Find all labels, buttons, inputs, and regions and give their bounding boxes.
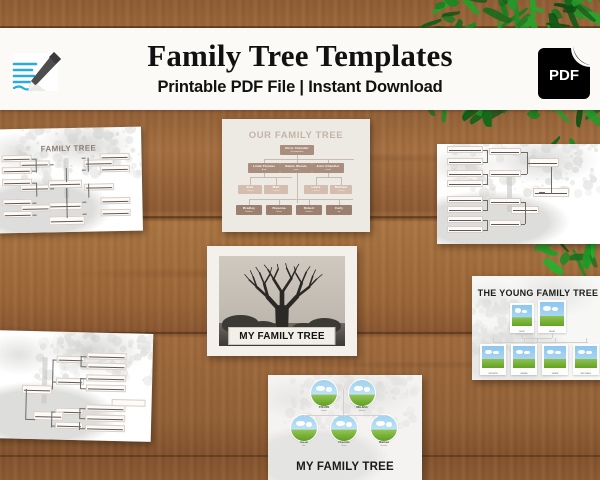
org-node-name: Laura [312, 186, 321, 189]
connector-line [80, 366, 86, 367]
org-node-name: John Chandler [317, 165, 340, 168]
circle-role: Brother [367, 445, 401, 447]
org-node: CarlyMe [326, 205, 352, 215]
org-node-name: Carly [335, 207, 343, 210]
org-connector [316, 177, 342, 178]
org-node-name: Linda Thomas [253, 165, 275, 168]
org-node: MattCousin [264, 185, 288, 194]
cloud-shape [552, 307, 558, 311]
photo-placeholder: DAD [510, 303, 534, 333]
connector-line [79, 418, 85, 419]
cloud-shape [578, 350, 585, 354]
writing-line [449, 220, 481, 221]
cloud-shape [336, 421, 345, 427]
connector-line [521, 224, 525, 225]
connector-line [344, 415, 345, 417]
org-node-role: Cousin [247, 190, 254, 192]
writing-line [449, 230, 481, 231]
writing-line [449, 210, 481, 211]
cloud-shape [524, 351, 529, 355]
connector-line [483, 230, 488, 231]
template-title: MY FAMILY TREE [268, 461, 422, 473]
org-node-name: Breanna [272, 207, 285, 210]
page-title: Family Tree Templates [147, 40, 453, 71]
connector-line [50, 188, 54, 189]
photo-circle [331, 415, 357, 441]
org-connector [276, 177, 277, 185]
template-card-young-family-tree[interactable]: THE YOUNG FAMILY TREE DADMUMSTEVENANNIEG… [472, 276, 600, 380]
writing-line [491, 224, 519, 225]
org-node: KurtCousin [238, 185, 262, 194]
org-node-role: Cousin [313, 190, 320, 192]
connector-line [82, 158, 86, 159]
circle-role: Mother [345, 410, 379, 412]
photo-caption: GENE [542, 373, 568, 375]
org-connector [279, 199, 280, 205]
connector-line [551, 167, 552, 189]
org-node-role: Cousin [273, 190, 280, 192]
writing-line [491, 152, 519, 153]
org-connector [249, 199, 353, 200]
connector-line [487, 174, 488, 184]
connector-line [79, 408, 85, 409]
template-title: MY FAMILY TREE [228, 327, 335, 345]
org-connector [339, 199, 340, 205]
org-connector [249, 199, 250, 205]
connector-line [32, 203, 36, 204]
org-node: MichaelCousin [330, 185, 352, 194]
cloud-shape [386, 422, 393, 426]
connector-line [343, 389, 344, 403]
org-node: RobertBrother [296, 205, 322, 215]
photo-thumbnail [482, 346, 504, 368]
cloud-shape [515, 308, 521, 312]
connector-line [343, 403, 344, 415]
connector-line [79, 428, 85, 429]
org-connector [309, 199, 310, 205]
circle-role: Father [307, 410, 341, 412]
org-connector [264, 159, 265, 163]
template-title: THE YOUNG FAMILY TREE [472, 288, 600, 298]
cloud-shape [555, 351, 560, 355]
photo-placeholder: STEVEN [480, 344, 506, 375]
org-node-name: Doris Chandler [285, 147, 309, 150]
connector-line [555, 338, 556, 342]
connector-line [539, 192, 545, 193]
photo-caption: MICHAEL [573, 373, 599, 375]
photo-placeholder: MICHAEL [573, 344, 599, 375]
cloud-shape [543, 306, 550, 311]
connector-line [384, 415, 385, 417]
photo-thumbnail [512, 305, 532, 326]
org-node: BradleyBrother [236, 205, 262, 215]
connector-line [537, 338, 538, 342]
template-card-classic-pedigree[interactable]: FAMILY TREE [0, 127, 143, 234]
photo-caption: STEVENFather [307, 407, 341, 412]
template-card-pedigree-bottom-left[interactable] [0, 330, 153, 442]
org-connector [328, 159, 329, 163]
org-connector [250, 177, 251, 185]
org-node-name: Bradley [243, 207, 255, 210]
connector-line [483, 162, 488, 163]
pdf-file-icon: PDF [538, 44, 590, 99]
org-node-role: Brother [245, 211, 252, 213]
circle-name: Jessie [287, 442, 321, 445]
photo-thumbnail [513, 346, 535, 368]
photo-placeholder: ANNIE [511, 344, 537, 375]
photo-caption: STEVEN [480, 373, 506, 375]
cloud-shape [354, 386, 363, 392]
photo-circle [371, 415, 397, 441]
connector-line [586, 338, 587, 342]
org-node-role: Cousin [338, 190, 345, 192]
writing-line [449, 174, 481, 175]
connector-line [82, 202, 86, 203]
connector-line [521, 174, 527, 175]
writing-line [449, 150, 481, 151]
org-connector [297, 159, 298, 163]
photo-thumbnail [544, 346, 566, 368]
photo-placeholder: GENE [542, 344, 568, 375]
photo-placeholder: MUM [538, 300, 566, 333]
photo-circle [311, 380, 337, 406]
org-node: LauraCousin [304, 185, 328, 194]
org-node: Elaine WoodsMum [280, 163, 312, 173]
cloud-shape [316, 386, 325, 392]
cloud-shape [346, 422, 353, 426]
connector-line [50, 164, 54, 165]
writing-line [491, 202, 519, 203]
org-node-name: Robert [304, 207, 315, 210]
photo-circle [291, 415, 317, 441]
cloud-shape [522, 310, 527, 313]
cloud-shape [547, 350, 554, 354]
pencil-writing-icon [10, 50, 64, 94]
screenshot-stage: Family Tree Templates Printable PDF File… [0, 0, 600, 480]
writing-line [531, 163, 557, 164]
connector-line [82, 170, 86, 171]
org-connector [316, 177, 317, 185]
photo-thumbnail [575, 346, 597, 368]
template-card-our-family-tree[interactable]: OUR FAMILY TREE Doris ChandlerGrandmothe… [222, 119, 370, 232]
connector-line [80, 378, 86, 379]
circle-role: Me [287, 445, 321, 447]
org-node: BreannaSister [266, 205, 292, 215]
org-node-role: Sister [276, 211, 282, 213]
photo-caption: CharlotteSister [327, 442, 361, 447]
org-node-role: Grandmother [291, 151, 304, 153]
connector-line [83, 214, 87, 215]
photo-caption: JessieMe [287, 442, 321, 447]
template-card-pedigree-right[interactable] [437, 144, 600, 244]
cloud-shape [493, 351, 498, 355]
org-node: John ChandlerUncle [312, 163, 344, 173]
org-node-name: Kurt [247, 186, 254, 189]
photo-caption: ANNIE [511, 373, 537, 375]
connector-line [525, 202, 526, 224]
header-banner: Family Tree Templates Printable PDF File… [0, 28, 600, 110]
connector-line [483, 210, 488, 211]
org-node-role: Brother [305, 211, 312, 213]
photo-caption: MELISSAMother [345, 407, 379, 412]
connector-line [524, 338, 525, 342]
cloud-shape [296, 421, 305, 427]
connector-line [552, 333, 553, 338]
cloud-shape [306, 422, 313, 426]
cloud-shape [376, 421, 385, 427]
cloud-shape [326, 387, 333, 391]
photo-circle [349, 380, 375, 406]
org-node-name: Elaine Woods [285, 165, 306, 168]
template-card-circle-family-tree[interactable]: STEVENFatherMELISSAMotherJessieMeCharlot… [268, 375, 422, 480]
circle-role: Sister [327, 445, 361, 447]
writing-line [449, 162, 481, 163]
connector-line [304, 415, 305, 417]
page-subtitle: Printable PDF File | Instant Download [147, 78, 453, 97]
org-connector [250, 177, 292, 178]
writing-line [491, 174, 519, 175]
org-node-role: Me [337, 211, 340, 213]
org-node: Linda ThomasAunt [248, 163, 280, 173]
template-card-photo-tree[interactable]: MY FAMILY TREE [207, 246, 357, 356]
connector-line [483, 184, 488, 185]
connector-line [487, 220, 488, 230]
photo-thumbnail [540, 302, 564, 326]
svg-text:PDF: PDF [549, 67, 579, 84]
connector-line [493, 342, 588, 343]
org-node-role: Aunt [262, 169, 267, 171]
connector-line [33, 215, 37, 216]
cloud-shape [485, 350, 492, 354]
org-node-name: Matt [273, 186, 280, 189]
cloud-shape [586, 351, 591, 355]
header-text-block: Family Tree Templates Printable PDF File… [147, 40, 453, 97]
org-node-role: Mum [294, 169, 299, 171]
connector-line [80, 388, 86, 389]
org-node-name: Michael [335, 186, 347, 189]
connector-line [525, 210, 531, 211]
template-title: OUR FAMILY TREE [222, 130, 370, 141]
cloud-shape [364, 387, 371, 391]
connector-line [81, 356, 87, 357]
connector-line [487, 200, 488, 210]
org-connector [341, 177, 342, 185]
connector-line [487, 150, 488, 162]
org-connector [264, 159, 354, 160]
org-node-role: Uncle [325, 169, 331, 171]
name-box [112, 399, 146, 407]
photo-caption: MatthewBrother [367, 442, 401, 447]
writing-line [449, 184, 481, 185]
cloud-shape [516, 350, 523, 354]
writing-line [449, 200, 481, 201]
connector-line [551, 188, 552, 194]
connector-line [527, 163, 531, 164]
connector-line [493, 338, 494, 342]
org-node: Doris ChandlerGrandmother [280, 145, 314, 155]
